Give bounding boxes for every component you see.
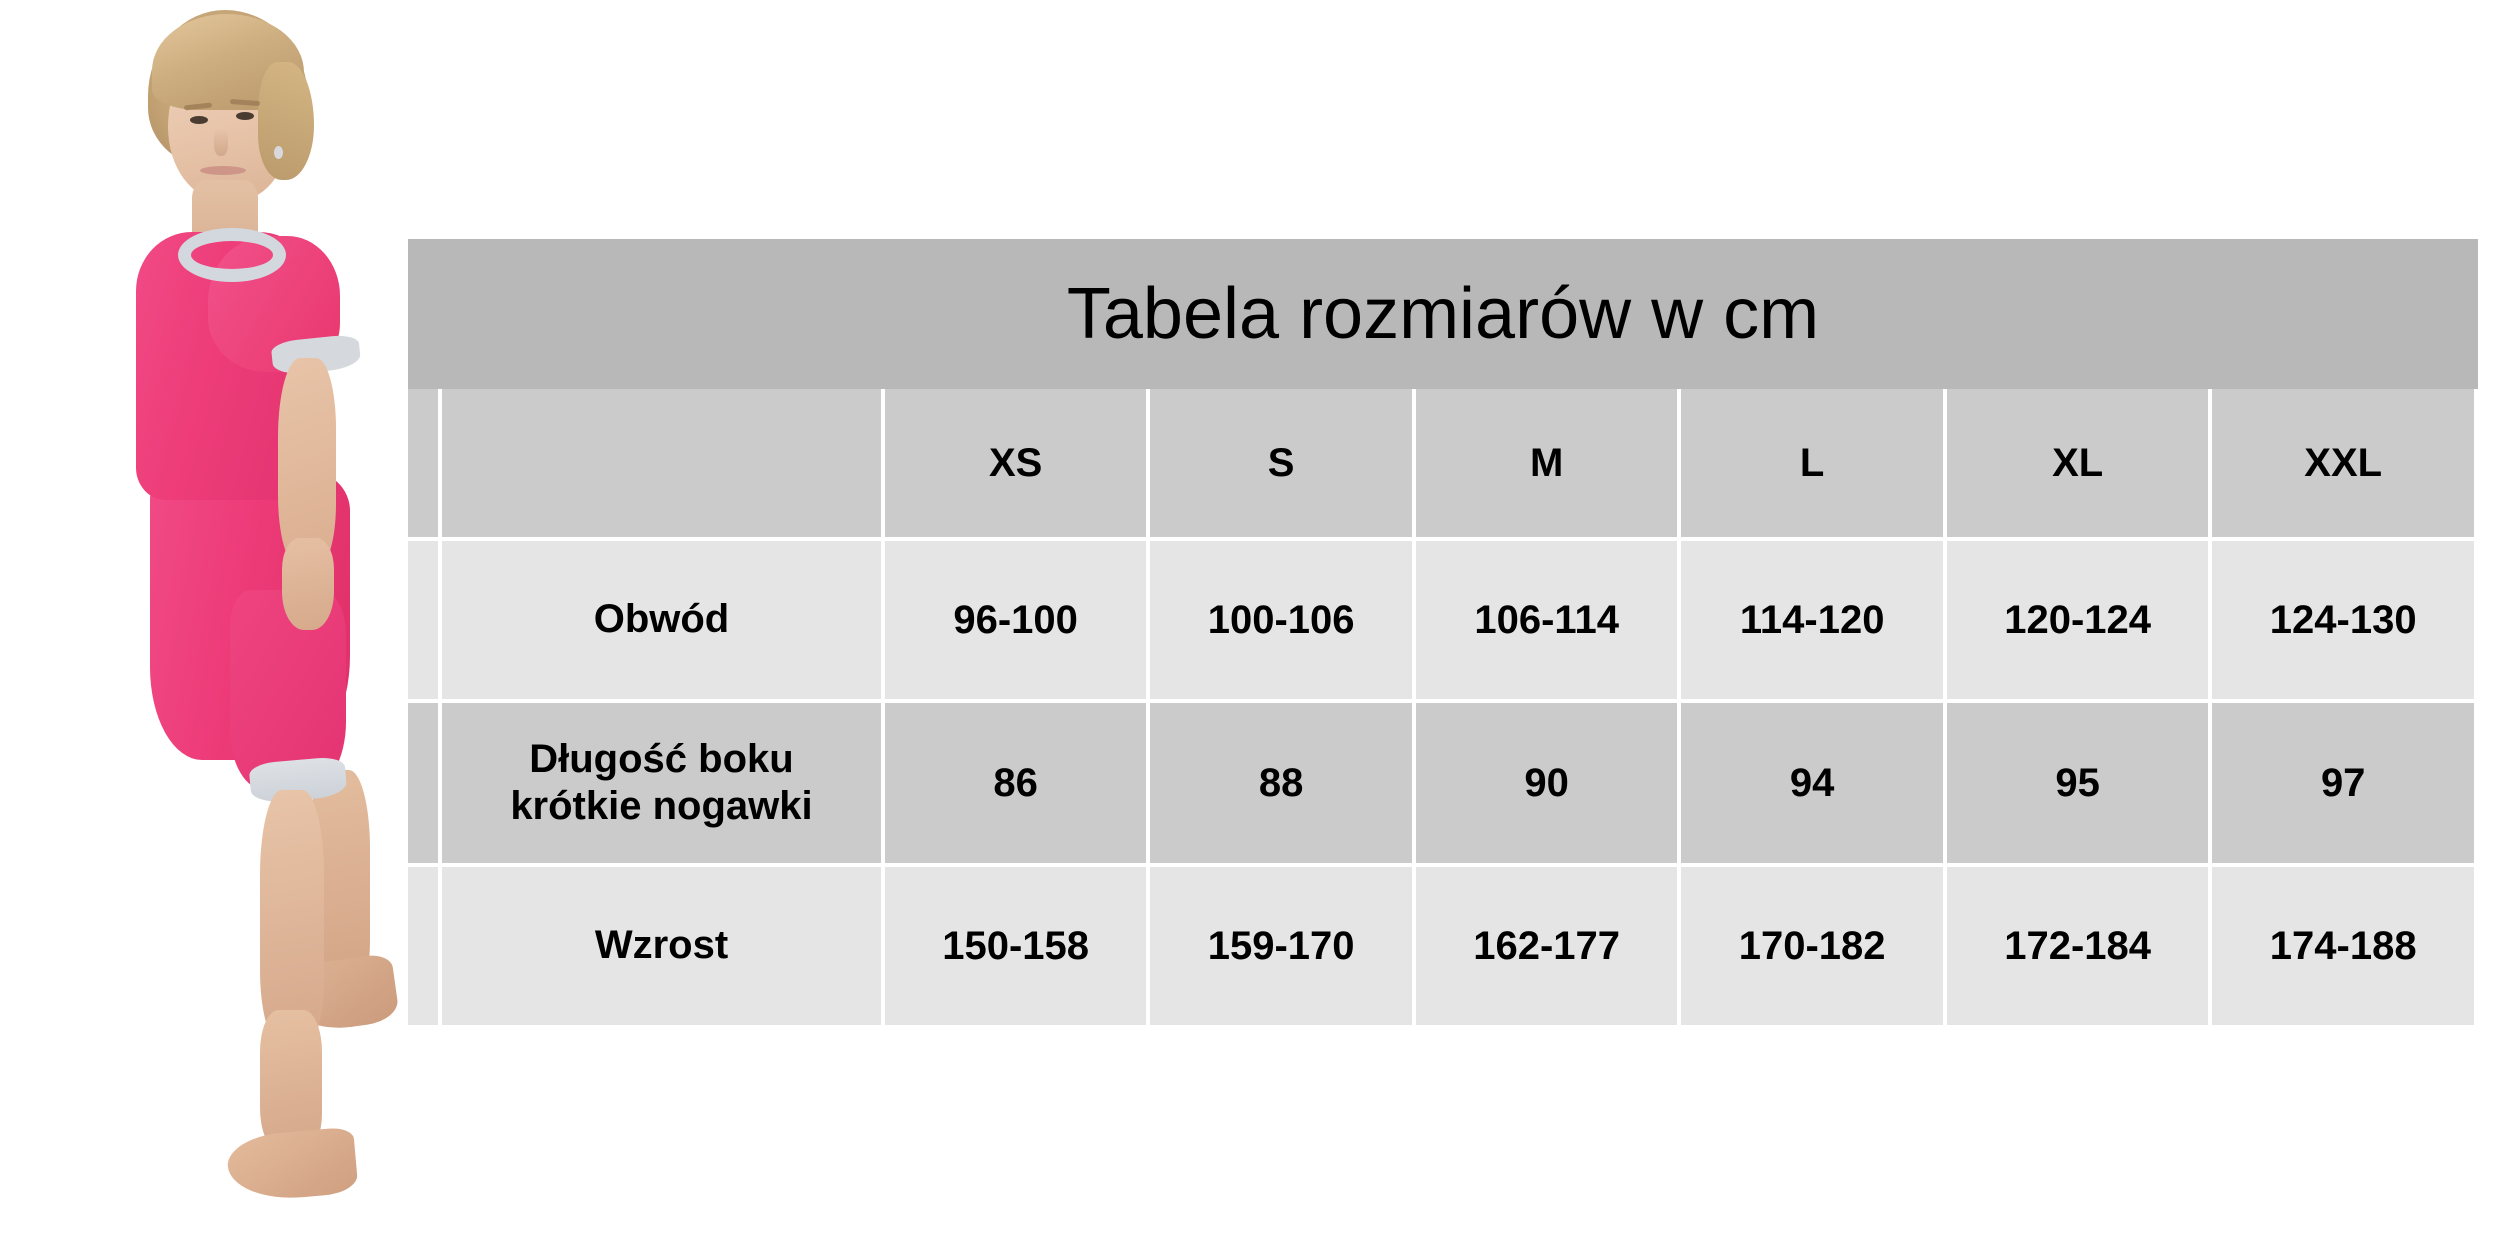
cell-wzrost-xs: 150-158 bbox=[885, 867, 1151, 1029]
cell-wzrost-m: 162-177 bbox=[1416, 867, 1682, 1029]
cell-obwod-s: 100-106 bbox=[1150, 541, 1416, 703]
model-mouth bbox=[200, 166, 246, 175]
model-hand bbox=[282, 538, 334, 630]
cell-dlugosc-s: 88 bbox=[1150, 703, 1416, 867]
cell-dlugosc-m: 90 bbox=[1416, 703, 1682, 867]
table-title-row: Tabela rozmiarów w cm bbox=[408, 239, 2478, 389]
cell-wzrost-xl: 172-184 bbox=[1947, 867, 2213, 1029]
row-label-obwod: Obwód bbox=[442, 541, 885, 703]
header-label-cell bbox=[442, 389, 885, 541]
header-size-l: L bbox=[1681, 389, 1947, 541]
table-header-row: XS S M L XL XXL bbox=[408, 389, 2478, 541]
cell-dlugosc-xxl: 97 bbox=[2212, 703, 2478, 867]
cell-dlugosc-xs: 86 bbox=[885, 703, 1151, 867]
size-chart-table: Tabela rozmiarów w cm XS S M L XL XXL Ob… bbox=[408, 239, 2478, 1029]
row-label-line-2: krótkie nogawki bbox=[510, 784, 812, 828]
cell-obwod-m: 106-114 bbox=[1416, 541, 1682, 703]
garment-collar bbox=[178, 228, 286, 282]
header-size-s: S bbox=[1150, 389, 1416, 541]
table-row: Obwód 96-100 100-106 106-114 114-120 120… bbox=[408, 541, 2478, 703]
header-size-xxl: XXL bbox=[2212, 389, 2478, 541]
model-nose bbox=[214, 128, 228, 156]
cell-obwod-l: 114-120 bbox=[1681, 541, 1947, 703]
cell-wzrost-s: 159-170 bbox=[1150, 867, 1416, 1029]
model-hair-side bbox=[258, 62, 314, 180]
cell-dlugosc-l: 94 bbox=[1681, 703, 1947, 867]
header-size-xs: XS bbox=[885, 389, 1151, 541]
cell-obwod-xl: 120-124 bbox=[1947, 541, 2213, 703]
model-photo bbox=[110, 0, 470, 1250]
header-size-xl: XL bbox=[1947, 389, 2213, 541]
model-arm bbox=[278, 358, 336, 566]
model-calf-front bbox=[260, 790, 324, 1040]
model-eye-left bbox=[190, 116, 208, 124]
row-label-line-1: Długość boku bbox=[529, 737, 793, 781]
cell-obwod-xs: 96-100 bbox=[885, 541, 1151, 703]
cell-wzrost-l: 170-182 bbox=[1681, 867, 1947, 1029]
cell-wzrost-xxl: 174-188 bbox=[2212, 867, 2478, 1029]
model-foot-front bbox=[225, 1127, 358, 1204]
table-row: Długość boku krótkie nogawki 86 88 90 94… bbox=[408, 703, 2478, 867]
page-title: Tabela rozmiarów w cm bbox=[408, 239, 2478, 389]
model-eye-right bbox=[236, 112, 254, 120]
cell-dlugosc-xl: 95 bbox=[1947, 703, 2213, 867]
table-row: Wzrost 150-158 159-170 162-177 170-182 1… bbox=[408, 867, 2478, 1029]
header-size-m: M bbox=[1416, 389, 1682, 541]
cell-obwod-xxl: 124-130 bbox=[2212, 541, 2478, 703]
model-earring bbox=[274, 146, 283, 159]
row-label-dlugosc-boku: Długość boku krótkie nogawki bbox=[442, 703, 885, 867]
size-chart-container: Tabela rozmiarów w cm XS S M L XL XXL Ob… bbox=[408, 239, 2478, 1029]
row-label-wzrost: Wzrost bbox=[442, 867, 885, 1029]
